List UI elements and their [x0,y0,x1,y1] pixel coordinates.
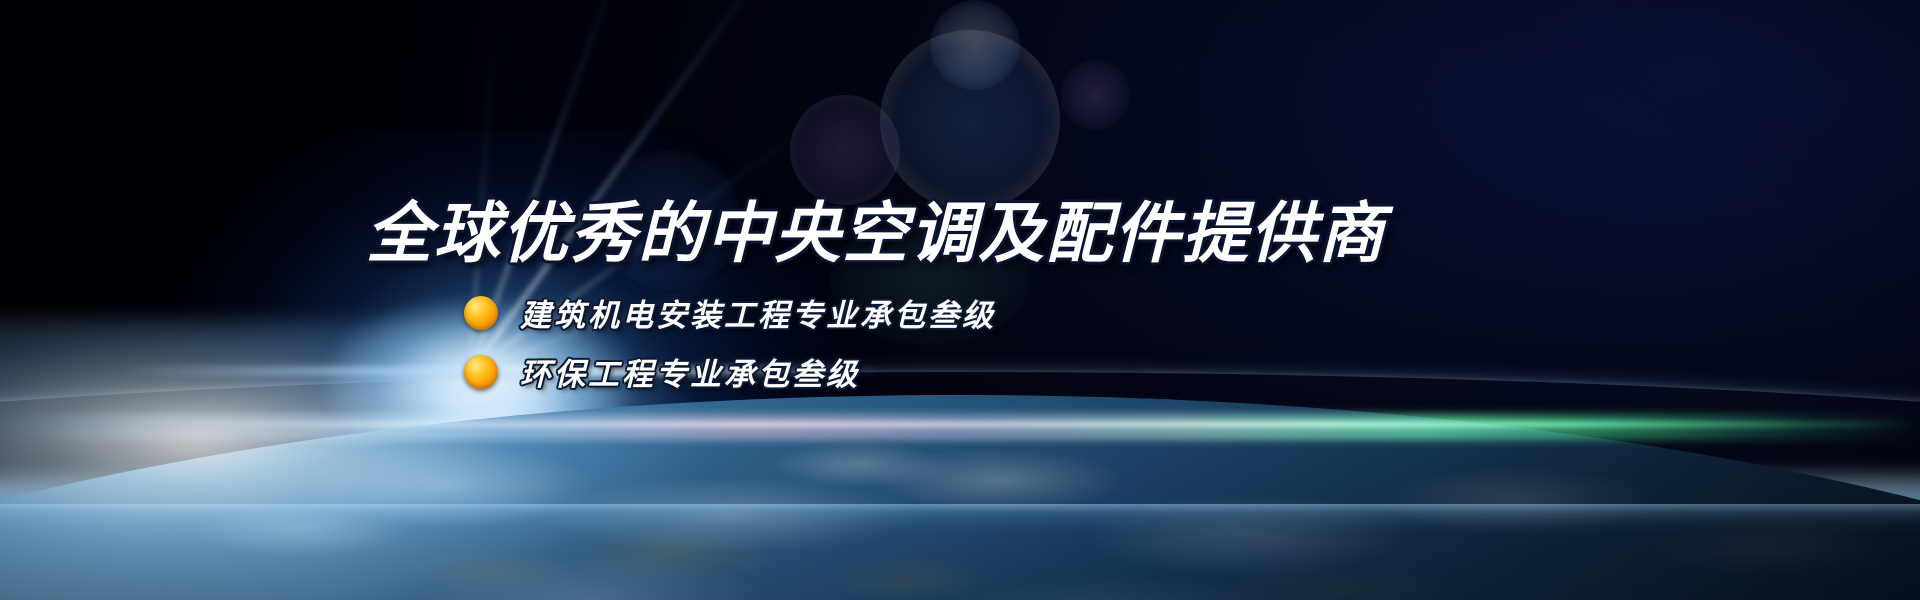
bullet-label: 建筑机电安装工程专业承包叁级 [520,290,996,335]
list-item: 环保工程专业承包叁级 [464,349,996,394]
banner-content: 全球优秀的中央空调及配件提供商 建筑机电安装工程专业承包叁级 环保工程专业承包叁… [0,0,1920,600]
list-item: 建筑机电安装工程专业承包叁级 [464,290,996,335]
bullet-label: 环保工程专业承包叁级 [520,349,860,394]
banner-bullet-list: 建筑机电安装工程专业承包叁级 环保工程专业承包叁级 [464,290,996,394]
orange-dot-icon [464,355,498,389]
orange-dot-icon [464,296,498,330]
banner-headline: 全球优秀的中央空调及配件提供商 [366,200,1386,266]
hero-banner: 全球优秀的中央空调及配件提供商 建筑机电安装工程专业承包叁级 环保工程专业承包叁… [0,0,1920,600]
